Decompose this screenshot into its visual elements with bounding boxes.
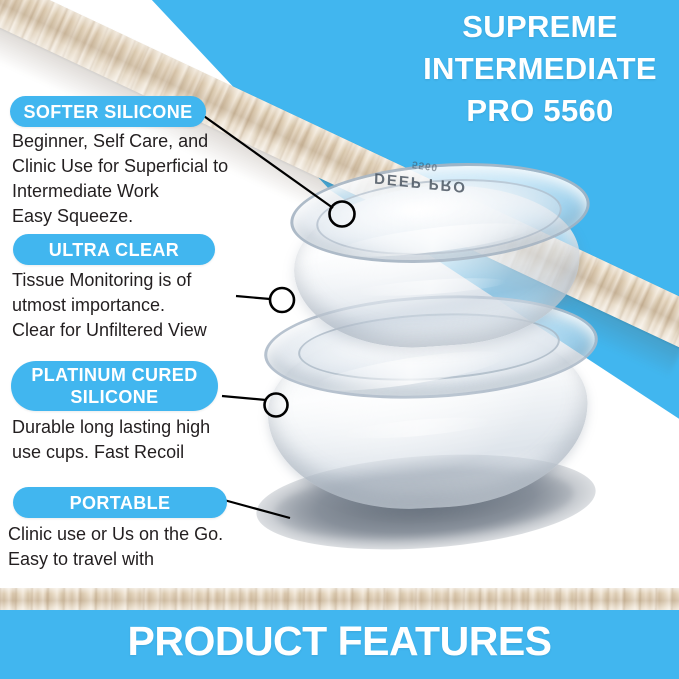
footer-title: PRODUCT FEATURES: [0, 618, 679, 665]
feature-label-2: ULTRA CLEAR: [49, 239, 179, 261]
product-image-cupping-set: 5560 DEEP PRO: [246, 168, 666, 588]
headline-line-3: PRO 5560: [406, 90, 674, 132]
feature-description-2: Tissue Monitoring is of utmost importanc…: [12, 268, 264, 343]
feature-label-3: PLATINUM CURED SILICONE: [31, 364, 197, 408]
page-title: SUPREME INTERMEDIATE PRO 5560: [406, 6, 674, 132]
feature-pill-portable[interactable]: PORTABLE: [13, 487, 227, 518]
headline-line-1: SUPREME: [406, 6, 674, 48]
feature-pill-softer-silicone[interactable]: SOFTER SILICONE: [10, 96, 206, 127]
feature-description-4: Clinic use or Us on the Go. Easy to trav…: [8, 522, 264, 572]
feature-description-1: Beginner, Self Care, and Clinic Use for …: [12, 129, 262, 229]
feature-pill-platinum-cured-silicone[interactable]: PLATINUM CURED SILICONE: [11, 361, 218, 411]
product-infographic: SUPREME INTERMEDIATE PRO 5560 5560 DEEP …: [0, 0, 679, 679]
feature-label-4: PORTABLE: [70, 492, 171, 514]
feature-pill-ultra-clear[interactable]: ULTRA CLEAR: [13, 234, 215, 265]
feature-label-1: SOFTER SILICONE: [23, 101, 192, 123]
feature-description-3: Durable long lasting high use cups. Fast…: [12, 415, 264, 465]
headline-line-2: INTERMEDIATE: [406, 48, 674, 90]
bottom-wood-plank: [0, 588, 679, 611]
